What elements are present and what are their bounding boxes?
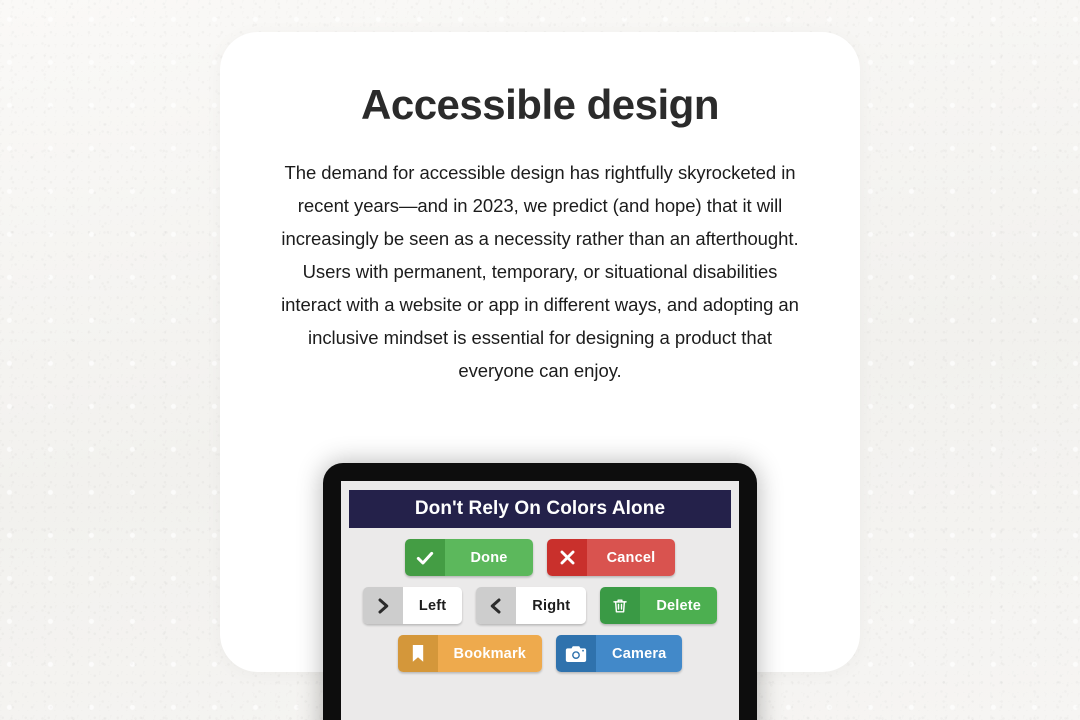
right-button[interactable]: Right [476, 587, 586, 624]
checkmark-icon [405, 539, 445, 576]
tablet-device-mockup: Don't Rely On Colors Alone Done [323, 463, 757, 720]
camera-button-label: Camera [596, 635, 682, 672]
bookmark-button-label: Bookmark [438, 635, 543, 672]
button-row-1: Done Cancel [349, 539, 731, 576]
mockup-header-bar: Don't Rely On Colors Alone [349, 490, 731, 528]
camera-button[interactable]: Camera [556, 635, 682, 672]
body-paragraph: The demand for accessible design has rig… [272, 156, 808, 387]
button-row-3: Bookmark Camera [349, 635, 731, 672]
bookmark-icon [398, 635, 438, 672]
chevron-right-icon [363, 587, 403, 624]
left-button[interactable]: Left [363, 587, 462, 624]
bookmark-button[interactable]: Bookmark [398, 635, 543, 672]
delete-button-label: Delete [640, 587, 717, 624]
done-button[interactable]: Done [405, 539, 533, 576]
left-button-label: Left [403, 587, 462, 624]
button-row-2: Left Right [349, 587, 731, 624]
page-title: Accessible design [220, 82, 860, 128]
camera-icon [556, 635, 596, 672]
mockup-button-grid: Done Cancel [349, 539, 731, 683]
chevron-left-icon [476, 587, 516, 624]
right-button-label: Right [516, 587, 586, 624]
close-x-icon [547, 539, 587, 576]
done-button-label: Done [445, 539, 533, 576]
mockup-header-title: Don't Rely On Colors Alone [415, 498, 665, 520]
cancel-button[interactable]: Cancel [547, 539, 675, 576]
device-screen: Don't Rely On Colors Alone Done [341, 481, 739, 720]
delete-button[interactable]: Delete [600, 587, 717, 624]
trash-icon [600, 587, 640, 624]
cancel-button-label: Cancel [587, 539, 675, 576]
